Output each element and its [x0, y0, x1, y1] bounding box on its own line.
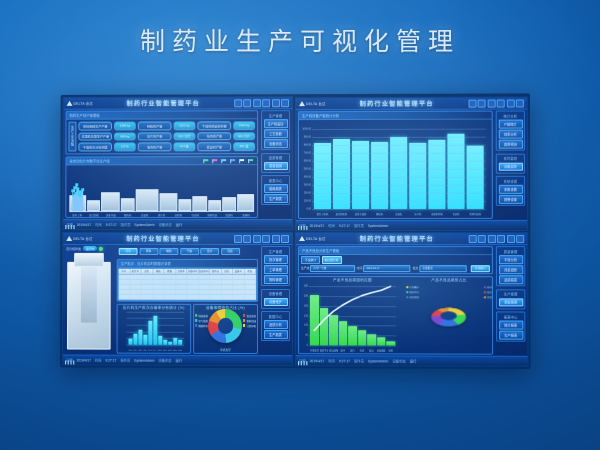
process-value: 925 万片 — [173, 132, 195, 141]
table-cell — [153, 274, 164, 278]
legend-label: 电气故障 — [198, 318, 208, 322]
table-cell — [199, 284, 210, 288]
capacity-chart-panel: 生产线设备产能统计分析 1000.00900.00800.00700.00600… — [298, 111, 493, 219]
capacity-bar-chart: 1000.00900.00800.00700.00600.00500.00400… — [299, 120, 492, 218]
table-cell — [187, 274, 198, 278]
table-cell — [245, 279, 256, 283]
process-vertical-tab[interactable]: 生产工艺流程 — [68, 122, 76, 151]
delta-triangle-icon — [299, 236, 305, 241]
table-cell — [176, 274, 187, 278]
bar — [143, 335, 147, 345]
table-col-header: 品名 — [142, 268, 153, 273]
process-label: 泡罩机产量 — [138, 142, 172, 151]
filter-group[interactable]: 批次全部批次 — [413, 265, 467, 273]
screen4-sidebar[interactable]: 质量管理不良分析改善追踪品质报表生产管理看板管理报表中心统计报表生产报表 — [495, 244, 528, 357]
table-cell — [164, 284, 175, 288]
tab-button[interactable]: 原料 — [139, 247, 158, 254]
table-cell — [130, 289, 141, 293]
table-cell — [187, 294, 198, 298]
process-cell[interactable]: 泡罩机产量874 板 — [138, 142, 196, 151]
donut-ring — [428, 308, 470, 327]
sidebar-button[interactable]: 改善追踪 — [498, 265, 522, 274]
process-label: 压片机产量 — [138, 132, 172, 141]
table-cell — [222, 284, 233, 288]
table-cell — [141, 284, 152, 288]
machine-label: 压片机 — [154, 213, 170, 217]
x-tick: 硬度不足 — [320, 348, 329, 352]
legend-item: 片重差异 — [406, 285, 419, 289]
machine-unit[interactable] — [222, 197, 236, 211]
table-cell — [187, 289, 198, 293]
delta-logo: DELTA 台达 — [67, 101, 93, 106]
table-row[interactable] — [119, 294, 256, 299]
machine-label: 泡罩包装 — [204, 213, 220, 217]
defect-filter-panel: 产品不良品分析生产看板 不良统计柏拉图分析 生产线片剂一号线时间2019-04-… — [298, 246, 493, 274]
process-cell[interactable]: 原料粉碎生产产量1286 kg — [78, 122, 135, 131]
sidebar-button[interactable]: 生产报表 — [264, 194, 288, 203]
sidebar-group: 设备管理设备维护 — [261, 288, 290, 308]
sidebar-group: 数据中心品质分析生产报表 — [261, 311, 290, 341]
process-cell[interactable]: 包衣机产量902 万片 — [197, 132, 255, 141]
table-cell — [130, 284, 141, 288]
y-axis: 300250200150100500 — [299, 286, 309, 345]
process-cell[interactable]: 干燥机水分检测值2.8 % — [78, 142, 135, 151]
x-tick: 总混机 — [390, 212, 407, 216]
sidebar-button[interactable]: 质量追溯 — [264, 162, 288, 171]
table-cell — [210, 279, 221, 283]
settings-icon[interactable] — [487, 99, 495, 107]
screen1-statusbar: 日期 2019/4/17 时间 9:27:17 操作员 SystemAdmin … — [63, 219, 292, 229]
help-icon[interactable] — [272, 234, 280, 242]
pareto-chart: 产品不良品原因柏拉图 300250200150100500 片重差异硬度不足崩边… — [299, 277, 406, 353]
table-body[interactable] — [119, 274, 256, 299]
y-tick: 150 — [304, 314, 308, 317]
x-tick: 金属检测机 — [428, 212, 445, 216]
settings-icon[interactable] — [487, 235, 495, 243]
table-cell — [199, 274, 210, 278]
sidebar-button[interactable]: 统计报表 — [499, 320, 523, 329]
table-cell — [176, 284, 187, 288]
y-tick: 100.00 — [304, 199, 311, 202]
minimize-icon[interactable] — [234, 99, 242, 107]
delta-triangle-icon — [67, 101, 73, 106]
process-label: 干燥机成品投料量 — [197, 121, 231, 130]
sidebar-group-title: 生产管理 — [264, 248, 288, 253]
table-cell — [153, 294, 164, 298]
status-flag-blue — [230, 159, 236, 163]
sidebar-button[interactable]: 参数设置 — [498, 185, 522, 194]
machine-unit[interactable] — [136, 189, 158, 211]
table-col-header: 规格 — [153, 268, 164, 273]
sidebar-button[interactable]: 设备维护 — [263, 297, 287, 306]
bar — [467, 146, 484, 209]
sidebar-button[interactable]: 生产线监控 — [264, 119, 288, 128]
sidebar-button[interactable]: 工艺参数 — [264, 129, 288, 138]
x-tick: 包衣机 — [448, 212, 465, 216]
brand-name: DELTA 台达 — [306, 101, 326, 106]
status-flag-green — [203, 159, 209, 163]
sidebar-button[interactable]: 能耗报表 — [264, 184, 288, 193]
sidebar-group-title: 统计分析 — [498, 113, 522, 118]
machine-caption: 压片机状态 运行中 — [66, 246, 103, 251]
screen3-sidebar[interactable]: 生产管理批次管理工单管理物料管理设备管理设备维护数据中心品质分析生产报表 — [260, 244, 292, 356]
help-icon[interactable] — [507, 235, 515, 243]
downtime-panel: 设备故障停机占比 (%) 机械故障电气故障换模停机清洁保养物料短缺计划停机 停机… — [193, 303, 258, 354]
screen1-header-title: 制药行业智能管理平台 — [93, 98, 234, 107]
sidebar-group: 实时监控设备监控 — [496, 153, 525, 173]
restore-icon[interactable] — [243, 234, 251, 242]
table-col-header: 设备号 — [233, 268, 244, 273]
table-cell — [141, 289, 152, 293]
batch-table-panel: 生产批次 - 压片机实时数据记录表 序号批次号品名规格数量合格率开始时间结束时间… — [117, 258, 258, 301]
screen4-body: 产品不良品分析生产看板 不良统计柏拉图分析 生产线片剂一号线时间2019-04-… — [296, 244, 527, 357]
machine-label: 总混机 — [137, 213, 153, 217]
panel-header: 产品不良品分析生产看板 — [299, 247, 492, 255]
signal-icon: ▌▌▌▌ — [63, 220, 292, 229]
sidebar-group: 报表中心统计报表生产报表 — [496, 311, 525, 341]
brand-name: DELTA 台达 — [73, 236, 92, 241]
machine-labels: 提升上料混合制粒流化干燥整粒机总混机压片机金检机包衣机泡罩包装装盒机装箱机 — [69, 213, 254, 217]
close-icon[interactable] — [281, 99, 289, 107]
legend-label: 片重差异 — [409, 285, 419, 289]
filter-label: 时间 — [357, 266, 363, 270]
y-axis: 1000.00900.00800.00700.00600.00500.00400… — [299, 129, 312, 209]
x-tick: 97.5 — [153, 349, 157, 351]
table-cell — [153, 279, 164, 283]
process-cell[interactable]: 装盒机产量861 盒 — [197, 142, 255, 151]
close-icon[interactable] — [516, 235, 524, 243]
screen1-window-buttons[interactable] — [234, 99, 289, 107]
sidebar-group: 品质管理质量追溯 — [261, 153, 290, 173]
process-rows: 原料粉碎生产产量1286 kg制粒机产量1152 kg干燥机成品投料量1043 … — [78, 121, 255, 151]
x-axis-labels: 95.095.596.096.597.097.598.098.599.099.5… — [126, 349, 183, 351]
table-col-header: 结束时间 — [199, 268, 210, 273]
sidebar-button[interactable]: 生产报表 — [499, 331, 523, 340]
sidebar-button[interactable]: 趋势预测 — [498, 140, 522, 149]
process-value: 2.8 % — [114, 142, 136, 150]
legend-item: 裂片 — [484, 290, 492, 294]
process-cell[interactable]: 压片机产量925 万片 — [138, 132, 196, 141]
table-cell — [187, 284, 198, 288]
machine-label: 装盒机 — [221, 213, 237, 217]
sidebar-group: 报表中心能耗报表生产报表 — [261, 175, 290, 205]
delta-triangle-icon — [299, 101, 305, 106]
sidebar-button[interactable]: 产能统计 — [498, 120, 522, 129]
machine-unit[interactable] — [192, 196, 207, 211]
table-cell — [119, 294, 130, 298]
chart-xlabel: 停机类型 — [194, 348, 257, 353]
sidebar-button[interactable]: 设备状态 — [264, 139, 288, 148]
screen-bottom-left[interactable]: DELTA 台达 制药行业智能管理平台 压片机状态 运行中 — [62, 232, 293, 366]
delta-logo: DELTA 台达 — [299, 101, 326, 106]
sidebar-button[interactable]: 品质报表 — [499, 275, 523, 284]
help-icon[interactable] — [272, 99, 280, 107]
machine-label: 整粒机 — [120, 213, 136, 217]
filter-group[interactable]: 时间2019-04-17 — [357, 265, 411, 273]
y-tick: 0 — [307, 344, 308, 347]
sidebar-button[interactable]: 看板管理 — [499, 298, 523, 307]
table-cell — [233, 289, 244, 293]
sidebar-button[interactable]: 报警设置 — [498, 195, 522, 204]
x-tick: 97.0 — [148, 349, 152, 351]
process-label: 装盒机产量 — [197, 142, 231, 151]
sidebar-group: 统计分析产能统计效率分析趋势预测 — [496, 110, 525, 150]
table-col-header: 批次号 — [130, 268, 141, 273]
status-dot-icon — [99, 246, 103, 250]
process-value: 1286 kg — [114, 122, 136, 131]
process-value: 986 kg — [114, 132, 136, 140]
legend-item: 计划停机 — [243, 323, 256, 327]
machine-unit[interactable] — [121, 198, 135, 211]
y-tick: 0.00 — [306, 207, 311, 210]
process-label: 总混机总混生产产量 — [78, 132, 112, 141]
machine-indicator — [82, 191, 83, 211]
sidebar-group-title: 数据中心 — [263, 314, 287, 319]
close-icon[interactable] — [281, 234, 289, 242]
table-cell — [222, 274, 233, 278]
screen3-charts-row: 压片机生产批次合格率分布统计 (%) 95.095.596.096.597.09… — [117, 303, 258, 354]
x-tick: 裂片 — [348, 348, 357, 352]
table-cell — [233, 274, 244, 278]
legend-item: 清洁保养 — [243, 313, 256, 317]
process-label: 原料粉碎生产产量 — [78, 122, 112, 131]
y-tick: 600.00 — [304, 160, 311, 163]
tab-row[interactable]: 不良统计柏拉图分析 — [299, 255, 492, 264]
x-tick: 98.0 — [158, 349, 162, 351]
tab-button[interactable]: 不良统计 — [301, 256, 320, 264]
process-cell[interactable]: 总混机总混生产产量986 kg — [78, 132, 135, 141]
screen2-body: 生产线设备产能统计分析 1000.00900.00800.00700.00600… — [296, 108, 527, 221]
table-cell — [119, 289, 130, 293]
table-cell — [153, 289, 164, 293]
process-cell[interactable]: 干燥机成品投料量1043 kg — [197, 121, 255, 130]
filter-row[interactable]: 生产线片剂一号线时间2019-04-17批次全部批次查询统计 — [299, 264, 492, 274]
table-col-header: 合格率 — [176, 268, 187, 273]
screen2-content: 生产线设备产能统计分析 1000.00900.00800.00700.00600… — [296, 109, 495, 221]
defect-analysis-panel: 产品不良品原因柏拉图 300250200150100500 片重差异硬度不足崩边… — [298, 276, 493, 355]
sidebar-group: 系统设置参数设置报警设置 — [496, 176, 525, 206]
sidebar-group-title: 生产管理 — [264, 113, 288, 118]
gridline — [126, 345, 183, 346]
screen-top-right[interactable]: DELTA 台达 制药行业智能管理平台 生产线设备产能统计分析 1000.009… — [295, 96, 528, 231]
sidebar-button[interactable]: 生产报表 — [263, 330, 287, 339]
minimize-icon[interactable] — [234, 234, 242, 242]
screen1-content: 制药生产线产能看板 生产工艺流程 原料粉碎生产产量1286 kg制粒机产量115… — [63, 108, 260, 220]
photo-scene: 制药业生产可视化管理 DELTA 台达 制药行业智能管理平台 制药生 — [0, 0, 600, 450]
x-tick: 95.0 — [128, 349, 132, 351]
donut-ring — [208, 309, 242, 343]
minimize-icon[interactable] — [468, 235, 476, 243]
tab-button[interactable]: 首页 — [119, 247, 138, 254]
machine-label: 包衣机 — [187, 213, 203, 217]
process-label: 制粒机产量 — [138, 121, 172, 130]
process-label: 干燥机水分检测值 — [78, 142, 112, 151]
screen3-window-buttons[interactable] — [234, 234, 289, 242]
machine-unit[interactable] — [87, 200, 100, 211]
machine-status-badge: 运行中 — [83, 246, 97, 251]
screen4-window-buttons[interactable] — [468, 235, 524, 243]
settings-icon[interactable] — [253, 234, 261, 242]
user-icon[interactable] — [262, 234, 270, 242]
restore-icon[interactable] — [243, 99, 251, 107]
bar — [333, 139, 350, 209]
sidebar-button[interactable]: 设备监控 — [498, 162, 522, 171]
sidebar-button[interactable]: 批次管理 — [264, 255, 288, 264]
legend-item: 崩边缺角 — [406, 295, 419, 299]
user-icon[interactable] — [262, 99, 270, 107]
filter-input[interactable]: 全部批次 — [419, 265, 466, 273]
sidebar-button[interactable]: 不良分析 — [498, 255, 522, 264]
machine-label: 提升上料 — [69, 213, 85, 217]
x-tick: 整粒机 — [371, 212, 388, 216]
table-cell — [245, 289, 256, 293]
minimize-icon[interactable] — [468, 99, 476, 107]
tab-button[interactable]: 压片 — [200, 247, 219, 254]
qualify-rate-panel: 压片机生产批次合格率分布统计 (%) 95.095.596.096.597.09… — [117, 303, 191, 354]
screen2-statusbar: 日期 2019/4/17 时间 9:27:17 操作员 SystemAdmin … — [296, 220, 527, 230]
y-tick: 300 — [304, 285, 308, 288]
x-tick: 黏冲 — [339, 348, 348, 352]
screen1-body: 制药生产线产能看板 生产工艺流程 原料粉碎生产产量1286 kg制粒机产量115… — [63, 108, 292, 220]
x-tick: 96.5 — [143, 349, 147, 351]
sidebar-group: 质量管理不良分析改善追踪品质报表 — [496, 246, 525, 286]
y-tick: 900.00 — [304, 136, 311, 139]
tab-button[interactable]: 干燥 — [180, 247, 199, 254]
sidebar-button[interactable]: 品质分析 — [263, 320, 287, 329]
table-cell — [245, 274, 256, 278]
screen3-content: 首页原料制粒干燥压片包装 生产批次 - 压片机实时数据记录表 序号批次号品名规格… — [115, 244, 260, 356]
table-cell — [222, 289, 233, 293]
settings-icon[interactable] — [253, 99, 261, 107]
query-button[interactable]: 查询统计 — [471, 265, 490, 273]
table-col-header: 序号 — [119, 268, 130, 273]
process-value: 1152 kg — [173, 121, 195, 130]
plot-area — [126, 311, 183, 345]
process-row: 干燥机水分检测值2.8 %泡罩机产量874 板装盒机产量861 盒 — [78, 142, 255, 151]
x-tick: 色差 — [358, 348, 367, 352]
user-icon[interactable] — [497, 99, 505, 107]
screen2-sidebar[interactable]: 统计分析产能统计效率分析趋势预测实时监控设备监控系统设置参数设置报警设置 — [495, 108, 528, 220]
table-cell — [210, 284, 221, 288]
x-tick: 泡罩包装机 — [467, 212, 484, 216]
status-flag-cyan — [221, 159, 227, 163]
status-flag-magenta — [212, 159, 218, 163]
machine-unit[interactable] — [178, 199, 191, 211]
status-flag-row — [203, 159, 254, 163]
machine-row[interactable] — [69, 189, 254, 211]
machine-unit[interactable] — [159, 193, 177, 211]
filter-input[interactable]: 片剂一号线 — [310, 265, 354, 273]
y-tick: 250 — [304, 294, 308, 297]
machine-unit[interactable] — [101, 192, 120, 211]
x-tick: 99.0 — [168, 349, 172, 351]
sidebar-button[interactable]: 工单管理 — [264, 265, 288, 274]
restore-icon[interactable] — [478, 99, 486, 107]
close-icon[interactable] — [516, 99, 524, 107]
legend-item: 机械故障 — [195, 313, 208, 317]
filter-label: 批次 — [413, 266, 419, 270]
legend-label: 崩边缺角 — [409, 295, 419, 299]
table-cell — [233, 284, 244, 288]
bar — [428, 140, 445, 209]
y-tick: 100 — [304, 324, 308, 327]
process-cell[interactable]: 制粒机产量1152 kg — [138, 121, 196, 130]
sidebar-group-title: 生产管理 — [499, 291, 523, 296]
defect-donut-chart: 产品不良品类别占比 片重差异硬度不足崩边缺角黏冲裂片其他 — [406, 277, 492, 354]
screen1-sidebar[interactable]: 生产管理生产线监控工艺参数设备状态品质管理质量追溯报表中心能耗报表生产报表 — [260, 108, 292, 220]
machine-unit[interactable] — [237, 194, 254, 211]
sidebar-group-title: 报表中心 — [264, 178, 288, 183]
machine-label: 金检机 — [170, 213, 186, 217]
x-tick: 99.5 — [173, 349, 177, 351]
filter-group[interactable]: 生产线片剂一号线 — [301, 265, 355, 273]
y-tick: 200.00 — [304, 192, 311, 195]
tab-row[interactable]: 首页原料制粒干燥压片包装 — [117, 246, 258, 257]
screen3-header-title: 制药行业智能管理平台 — [93, 234, 234, 243]
brand-name: DELTA 台达 — [73, 101, 92, 106]
restore-icon[interactable] — [478, 235, 486, 243]
x-tick: 流化干燥机 — [352, 212, 369, 216]
sidebar-group-title: 品质管理 — [264, 155, 288, 160]
plot-area — [312, 129, 486, 209]
table-cell — [164, 289, 175, 293]
x-tick: 片重差异 — [310, 348, 319, 352]
sidebar-group-title: 质量管理 — [498, 249, 522, 254]
screen-top-left[interactable]: DELTA 台达 制药行业智能管理平台 制药生产线产能看板 生产工艺流程 原料粉… — [62, 96, 293, 230]
table-cell — [199, 289, 210, 293]
process-row: 原料粉碎生产产量1286 kg制粒机产量1152 kg干燥机成品投料量1043 … — [78, 121, 255, 130]
x-tick: 表面粗糙 — [377, 348, 386, 352]
table-cell — [130, 279, 141, 283]
signal-icon: ▌▌▌▌ — [296, 356, 528, 366]
tab-button[interactable]: 包装 — [221, 247, 240, 255]
filter-input[interactable]: 2019-04-17 — [363, 265, 410, 273]
screen-bottom-right[interactable]: DELTA 台达 制药行业智能管理平台 产品不良品分析生产看板 不良统计柏拉图分… — [295, 232, 529, 367]
bar — [133, 334, 137, 345]
bar-series — [126, 311, 183, 345]
machine-unit[interactable] — [208, 200, 221, 211]
table-cell — [222, 294, 233, 298]
process-value: 1043 kg — [233, 121, 255, 130]
x-tick: 麻点 — [367, 348, 376, 352]
tab-button[interactable]: 制粒 — [159, 247, 178, 254]
sidebar-button[interactable]: 物料管理 — [264, 275, 288, 284]
table-cell — [233, 279, 244, 283]
chart-title: 产品不良品原因柏拉图 — [299, 278, 406, 283]
tab-button[interactable]: 柏拉图分析 — [322, 256, 342, 264]
screen4-header-title: 制药行业智能管理平台 — [326, 234, 469, 243]
user-icon[interactable] — [497, 235, 505, 243]
status-flag-white — [239, 159, 245, 163]
help-icon[interactable] — [506, 99, 514, 107]
legend-label: 硬度不足 — [409, 290, 419, 294]
screen2-window-buttons[interactable] — [468, 99, 524, 107]
x-axis-labels: 片重差异硬度不足崩边缺角黏冲裂片色差麻点表面粗糙其他 — [309, 348, 396, 352]
signal-icon: ▌▌▌▌ — [296, 221, 527, 230]
table-cell — [210, 274, 221, 278]
sidebar-button[interactable]: 效率分析 — [498, 130, 522, 139]
gridline — [309, 345, 396, 346]
table-cell — [153, 284, 164, 288]
machine-label: 混合制粒 — [86, 213, 102, 217]
batch-data-table[interactable]: 序号批次号品名规格数量合格率开始时间结束时间操作员班次设备号状态 — [118, 267, 257, 300]
table-cell — [187, 279, 198, 283]
sidebar-group-title: 报表中心 — [499, 314, 523, 319]
y-tick: 1000.00 — [302, 128, 311, 131]
y-tick: 50 — [305, 334, 308, 337]
sidebar-group: 生产管理批次管理工单管理物料管理 — [261, 246, 290, 286]
screen2-header-title: 制药行业智能管理平台 — [326, 99, 468, 108]
